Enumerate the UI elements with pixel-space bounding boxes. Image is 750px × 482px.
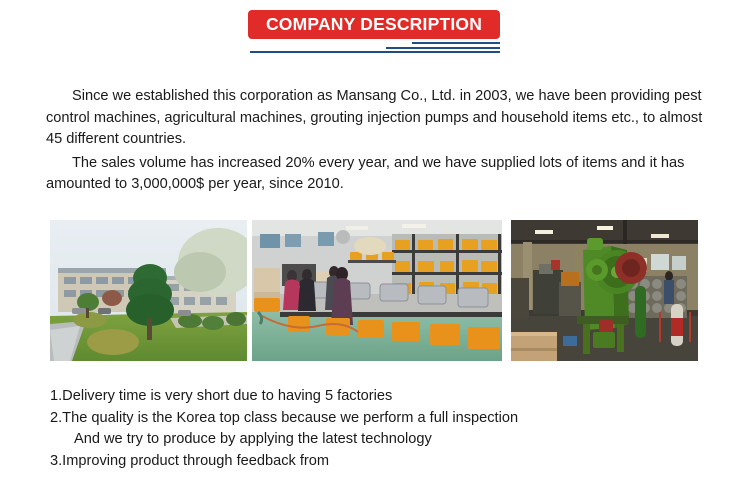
press-machine-photo — [511, 220, 698, 361]
header-rule-long — [250, 51, 500, 53]
company-description: Since we established this corporation as… — [46, 86, 706, 196]
feature-item-2-continuation: And we try to produce by applying the la… — [50, 429, 710, 451]
page-header: COMPANY DESCRIPTION — [0, 0, 750, 60]
header-rule-short — [412, 42, 500, 44]
feature-item-1: 1.Delivery time is very short due to hav… — [50, 386, 710, 408]
header-rule-medium — [386, 47, 500, 49]
feature-item-2: 2.The quality is the Korea top class bec… — [50, 408, 710, 430]
feature-item-3: 3.Improving product through feedback fro… — [50, 451, 710, 473]
description-paragraph-1: Since we established this corporation as… — [46, 86, 706, 151]
feature-list: 1.Delivery time is very short due to hav… — [50, 386, 710, 472]
description-paragraph-2: The sales volume has increased 20% every… — [46, 153, 706, 196]
page-title: COMPANY DESCRIPTION — [266, 16, 482, 34]
assembly-line-photo — [252, 220, 502, 361]
photo-gallery — [50, 220, 698, 361]
page-title-banner: COMPANY DESCRIPTION — [248, 10, 500, 39]
company-facility-photo — [50, 220, 247, 361]
